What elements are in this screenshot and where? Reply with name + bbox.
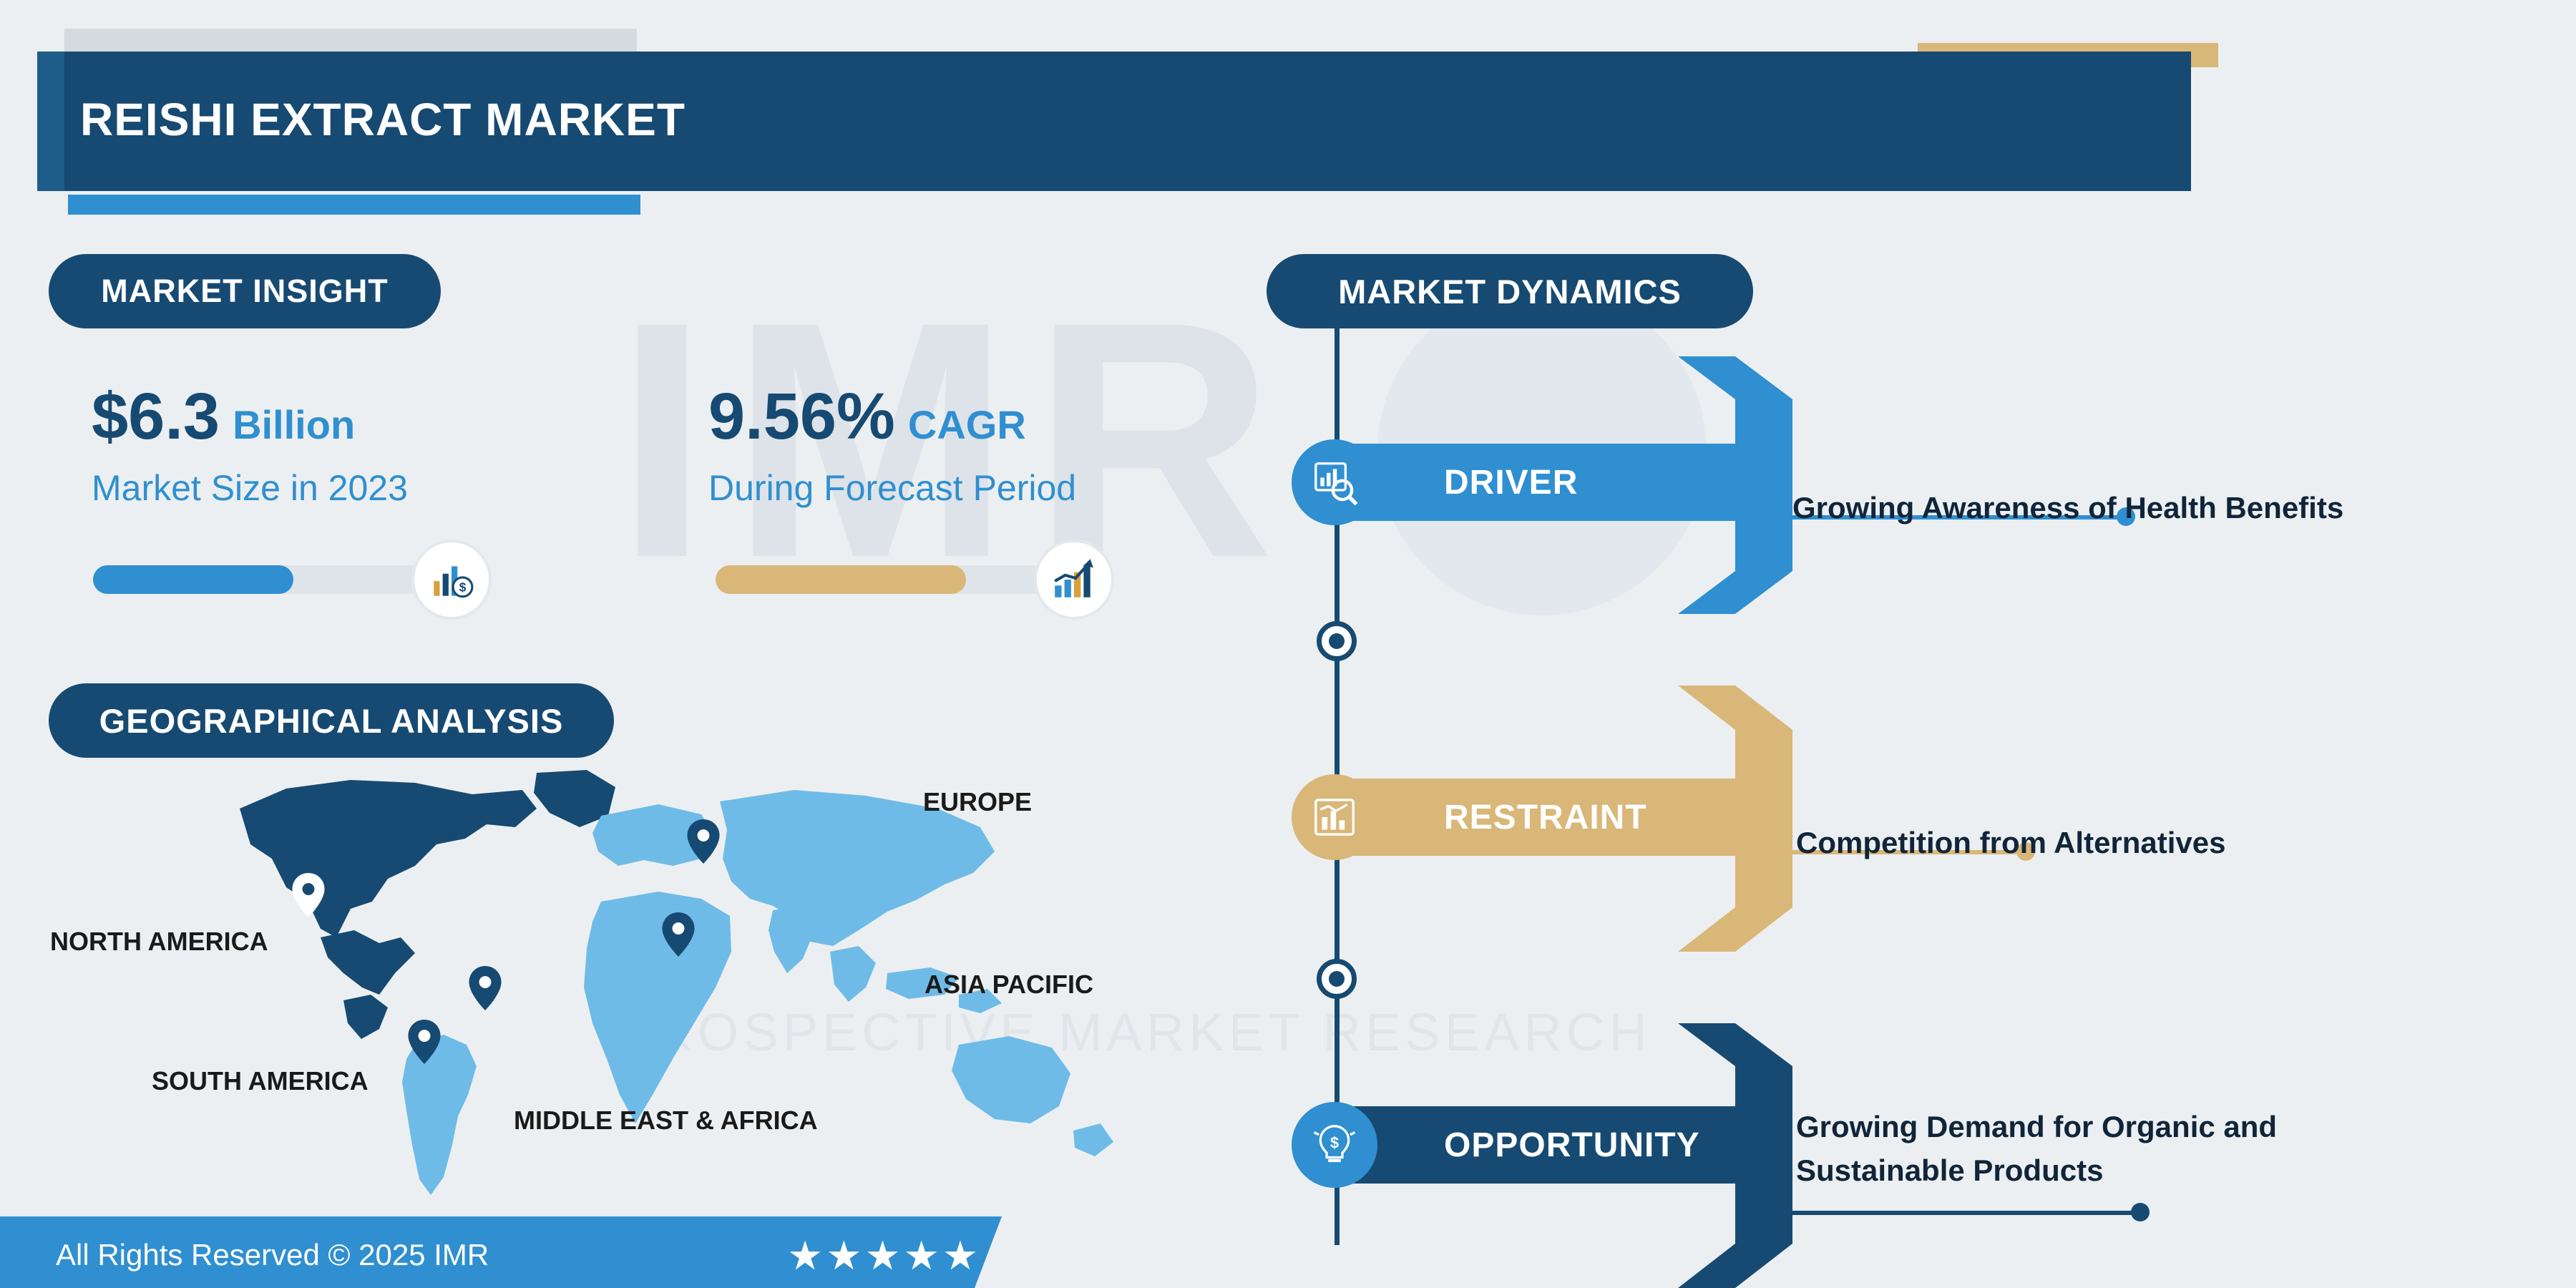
footer-copyright: All Rights Reserved © 2025 IMR [56, 1238, 489, 1272]
svg-text:$: $ [1330, 1133, 1339, 1151]
map-label-south-america: SOUTH AMERICA [152, 1066, 369, 1096]
spine-node-2 [1317, 959, 1357, 999]
search-analytics-icon [1292, 439, 1377, 525]
growth-chart-icon [1034, 540, 1114, 620]
meter-cagr [716, 565, 1052, 594]
stat-market-size-unit: Billion [233, 401, 355, 448]
badge-geographical-analysis: GEOGRAPHICAL ANALYSIS [49, 683, 614, 758]
dynamics-opportunity-chevron [1678, 1023, 1792, 1288]
footer-rating-stars: ★★★★★ [787, 1232, 981, 1279]
badge-market-dynamics: MARKET DYNAMICS [1267, 254, 1753, 328]
dynamics-driver-chevron [1678, 356, 1792, 618]
map-pin-asia-pacific [662, 912, 695, 960]
stat-cagr: 9.56% CAGR During Forecast Period [708, 379, 1076, 509]
page-title: REISHI EXTRACT MARKET [80, 93, 686, 146]
lightbulb-idea-icon: $ [1292, 1102, 1377, 1188]
map-pin-south-america [408, 1020, 441, 1068]
bar-chart-dollar-icon: $ [411, 540, 492, 620]
stat-market-size: $6.3 Billion Market Size in 2023 [92, 379, 408, 509]
dynamics-opportunity-text: Growing Demand for Organic and Sustainab… [1796, 1106, 2390, 1193]
map-label-middle-east-africa: MIDDLE EAST & AFRICA [514, 1106, 818, 1136]
map-label-asia-pacific: ASIA PACIFIC [924, 970, 1093, 1000]
stat-cagr-unit: CAGR [908, 401, 1026, 448]
svg-text:$: $ [459, 580, 467, 595]
stat-cagr-caption: During Forecast Period [708, 467, 1076, 509]
map-pin-europe [687, 819, 720, 867]
stat-cagr-value: 9.56% [708, 379, 895, 454]
bar-chart-down-icon [1292, 774, 1377, 860]
map-pin-middle-east-africa [469, 966, 502, 1014]
dynamics-restraint-text: Competition from Alternatives [1796, 821, 2512, 865]
map-label-europe: EUROPE [923, 787, 1032, 817]
dynamics-opportunity-leader-dot [2131, 1203, 2150, 1221]
meter-market-size [93, 565, 429, 594]
infographic-canvas: IMR PROSPECTIVE MARKET RESEARCH REISHI E… [0, 0, 2576, 1288]
spine-node-1 [1317, 621, 1357, 661]
dynamics-restraint-chevron [1678, 686, 1792, 955]
header-bar-notch [37, 52, 64, 191]
map-pin-north-america [292, 873, 325, 921]
badge-market-insight: MARKET INSIGHT [49, 254, 441, 328]
header-underline [68, 195, 640, 215]
stat-market-size-value: $6.3 [92, 379, 220, 454]
dynamics-driver-text: Growing Awareness of Health Benefits [1792, 487, 2508, 530]
stat-market-size-caption: Market Size in 2023 [92, 467, 408, 509]
map-label-north-america: NORTH AMERICA [50, 927, 268, 957]
dynamics-opportunity-leader-line [1789, 1211, 2140, 1215]
